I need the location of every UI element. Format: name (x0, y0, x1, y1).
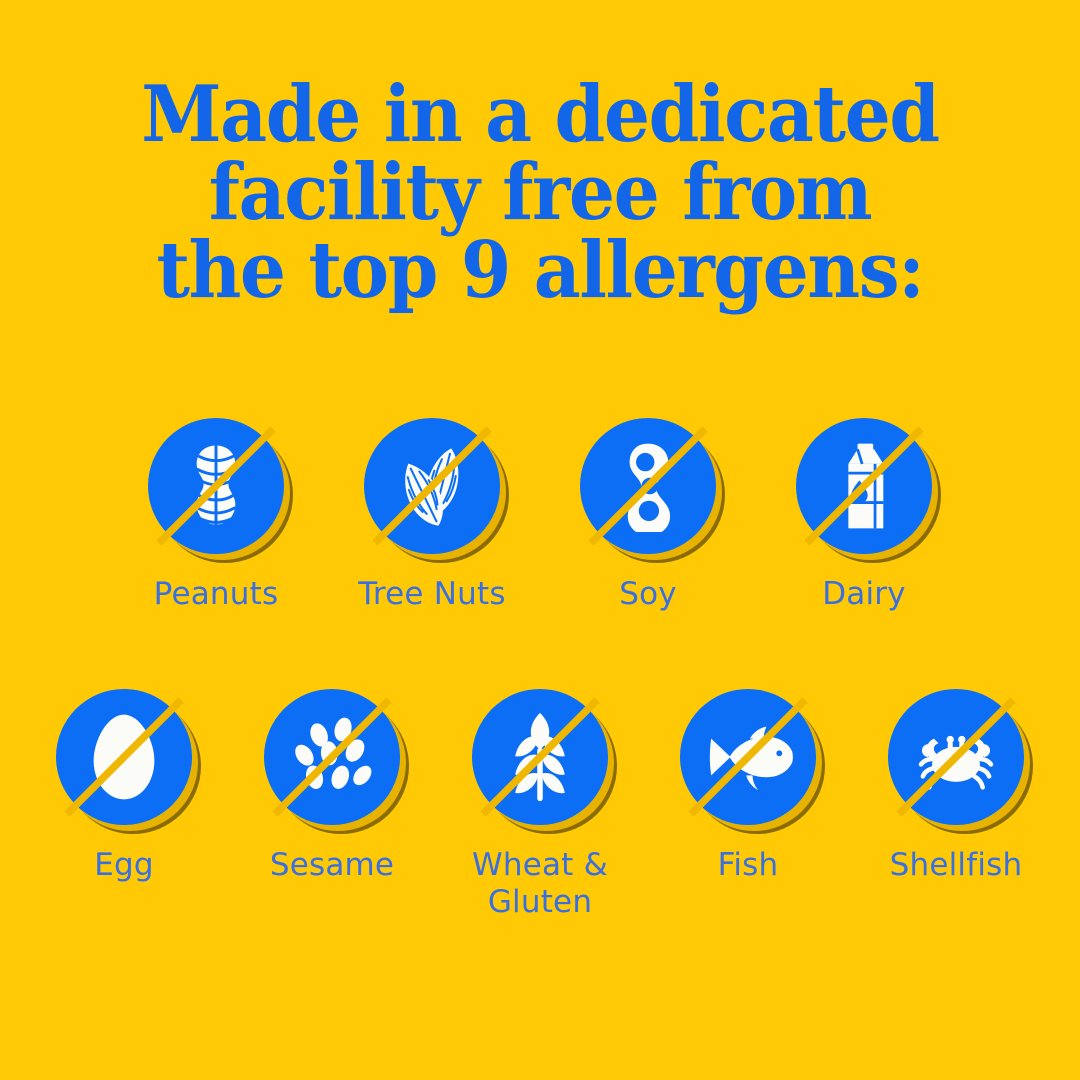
allergen-row-1: Peanuts (0, 418, 1080, 613)
allergen-label: Shellfish (890, 847, 1023, 884)
sesame-seeds-icon (264, 689, 400, 825)
allergen-item-dairy[interactable]: Dairy (789, 418, 939, 613)
soybean-pod-icon (580, 418, 716, 554)
fish-icon (680, 689, 816, 825)
allergen-label: Egg (94, 847, 154, 884)
badge-egg[interactable] (56, 689, 192, 825)
headline-line-1: Made in a dedicated (38, 76, 1042, 154)
wheat-stalk-icon (472, 689, 608, 825)
allergen-label: Dairy (822, 576, 906, 613)
peanut-icon (148, 418, 284, 554)
egg-icon (56, 689, 192, 825)
allergen-item-shellfish[interactable]: Shellfish (881, 689, 1031, 884)
page-title: Made in a dedicated facility free from t… (38, 76, 1042, 310)
badge-tree-nuts[interactable] (364, 418, 500, 554)
crab-icon (888, 689, 1024, 825)
allergen-label: Wheat & Gluten (472, 847, 608, 921)
allergen-item-tree-nuts[interactable]: Tree Nuts (357, 418, 507, 613)
badge-wheat-gluten[interactable] (472, 689, 608, 825)
allergen-label: Tree Nuts (358, 576, 505, 613)
allergen-item-sesame[interactable]: Sesame (257, 689, 407, 884)
headline-line-3: the top 9 allergens: (38, 232, 1042, 310)
allergen-poster: Made in a dedicated facility free from t… (0, 0, 1080, 1080)
allergen-item-soy[interactable]: Soy (573, 418, 723, 613)
allergen-item-wheat-gluten[interactable]: Wheat & Gluten (465, 689, 615, 921)
milk-carton-icon (796, 418, 932, 554)
badge-soy[interactable] (580, 418, 716, 554)
badge-fish[interactable] (680, 689, 816, 825)
allergen-label: Peanuts (154, 576, 279, 613)
allergen-item-egg[interactable]: Egg (49, 689, 199, 884)
allergen-grid: Peanuts (0, 418, 1080, 921)
headline-line-2: facility free from (38, 154, 1042, 232)
allergen-label: Fish (718, 847, 779, 884)
badge-shellfish[interactable] (888, 689, 1024, 825)
almond-icon (364, 418, 500, 554)
badge-dairy[interactable] (796, 418, 932, 554)
badge-peanuts[interactable] (148, 418, 284, 554)
allergen-item-peanuts[interactable]: Peanuts (141, 418, 291, 613)
badge-sesame[interactable] (264, 689, 400, 825)
allergen-row-2: Egg (0, 689, 1080, 921)
allergen-item-fish[interactable]: Fish (673, 689, 823, 884)
allergen-label: Soy (619, 576, 677, 613)
allergen-label: Sesame (270, 847, 394, 884)
